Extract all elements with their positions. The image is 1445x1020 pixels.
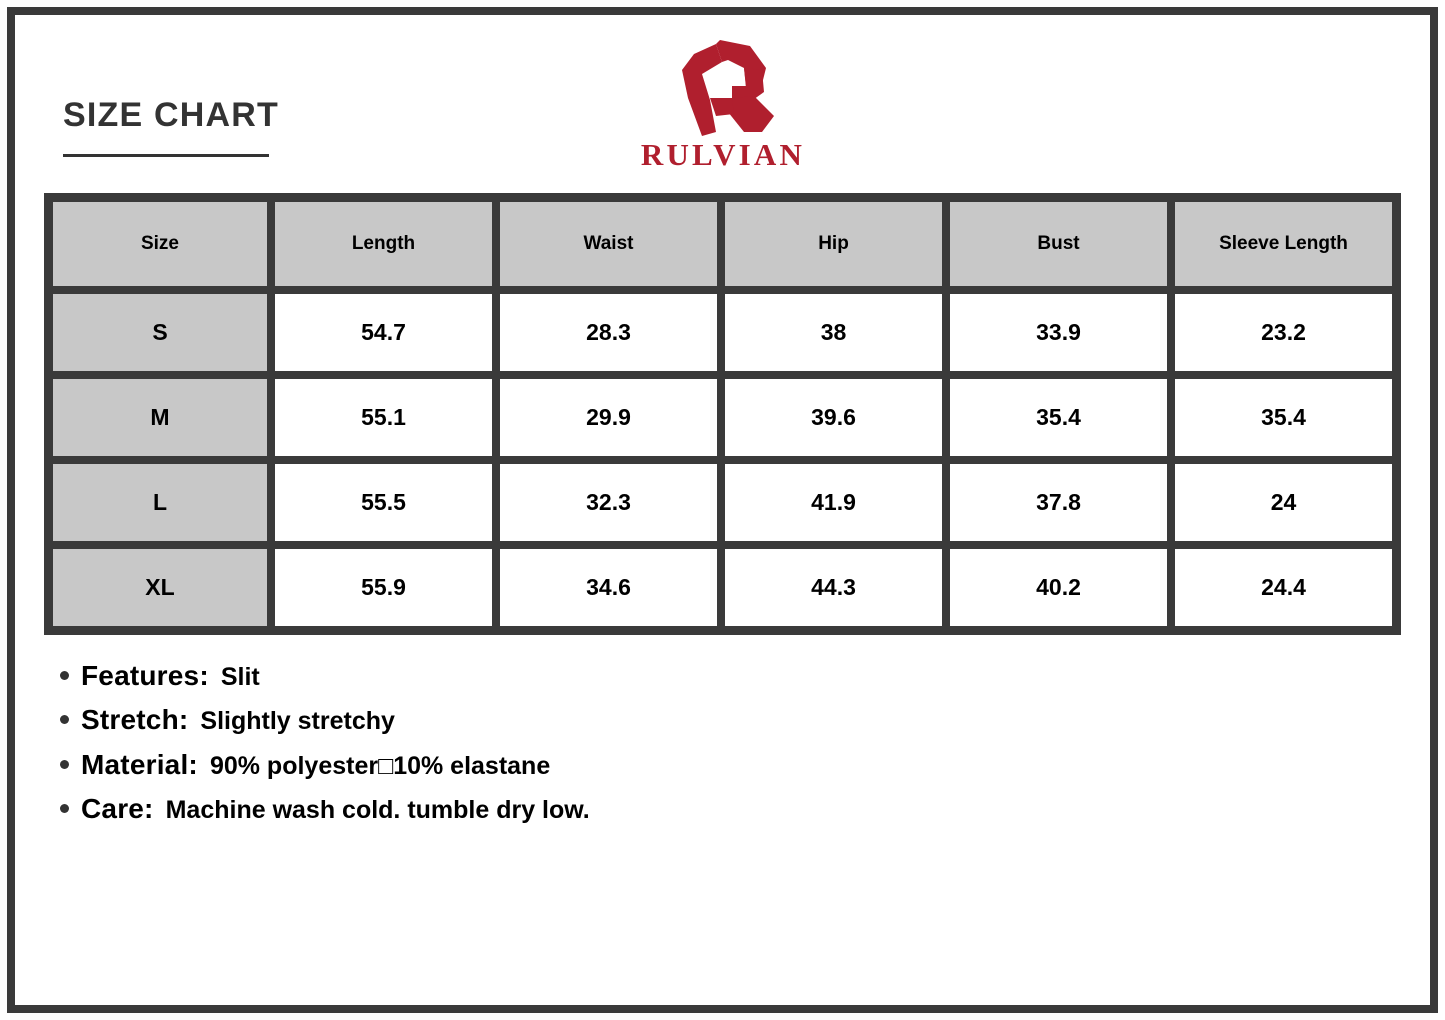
table-body: S 54.7 28.3 38 33.9 23.2 M 55.1 29.9 39.… [49,290,1396,630]
detail-label-stretch: Stretch: [81,702,188,737]
product-details-list: Features: Slit Stretch: Slightly stretch… [60,658,1260,835]
cell-sleeve-length: 24.4 [1171,545,1396,630]
cell-length: 54.7 [271,290,496,375]
cell-waist: 32.3 [496,460,721,545]
detail-value-care: Machine wash cold. tumble dry low. [166,795,590,826]
cell-size: S [49,290,271,375]
list-item: Care: Machine wash cold. tumble dry low. [60,791,1260,826]
table-row: M 55.1 29.9 39.6 35.4 35.4 [49,375,1396,460]
cell-bust: 33.9 [946,290,1171,375]
detail-value-stretch: Slightly stretchy [200,706,395,737]
detail-label-care: Care: [81,791,154,826]
cell-length: 55.5 [271,460,496,545]
column-header-hip: Hip [721,198,946,290]
table-header-row: Size Length Waist Hip Bust Sleeve Length [49,198,1396,290]
cell-bust: 40.2 [946,545,1171,630]
cell-bust: 35.4 [946,375,1171,460]
cell-length: 55.9 [271,545,496,630]
detail-label-material: Material: [81,747,198,782]
bullet-icon [60,715,69,724]
rulvian-r-monogram-icon [658,40,788,136]
bullet-icon [60,760,69,769]
title-underline-rule [63,154,269,157]
list-item: Features: Slit [60,658,1260,693]
title-block: SIZE CHART [63,98,279,157]
cell-waist: 29.9 [496,375,721,460]
cell-sleeve-length: 24 [1171,460,1396,545]
header: SIZE CHART RULVIAN [0,0,1445,190]
page-title: SIZE CHART [63,98,279,132]
cell-hip: 44.3 [721,545,946,630]
column-header-size: Size [49,198,271,290]
table-row: XL 55.9 34.6 44.3 40.2 24.4 [49,545,1396,630]
cell-hip: 39.6 [721,375,946,460]
list-item: Material: 90% polyester□10% elastane [60,747,1260,782]
column-header-bust: Bust [946,198,1171,290]
table-row: L 55.5 32.3 41.9 37.8 24 [49,460,1396,545]
table-row: S 54.7 28.3 38 33.9 23.2 [49,290,1396,375]
detail-label-features: Features: [81,658,209,693]
column-header-length: Length [271,198,496,290]
size-table-container: Size Length Waist Hip Bust Sleeve Length… [44,193,1401,635]
cell-size: M [49,375,271,460]
brand-wordmark: RULVIAN [620,139,826,170]
cell-length: 55.1 [271,375,496,460]
cell-bust: 37.8 [946,460,1171,545]
list-item: Stretch: Slightly stretchy [60,702,1260,737]
cell-sleeve-length: 35.4 [1171,375,1396,460]
detail-value-features: Slit [221,662,260,693]
size-chart-table: Size Length Waist Hip Bust Sleeve Length… [44,193,1401,635]
column-header-waist: Waist [496,198,721,290]
column-header-sleeve-length: Sleeve Length [1171,198,1396,290]
cell-waist: 28.3 [496,290,721,375]
size-chart-page: SIZE CHART RULVIAN [0,0,1445,1020]
brand-logo: RULVIAN [620,40,826,170]
bullet-icon [60,804,69,813]
cell-size: XL [49,545,271,630]
cell-sleeve-length: 23.2 [1171,290,1396,375]
cell-hip: 41.9 [721,460,946,545]
bullet-icon [60,671,69,680]
cell-waist: 34.6 [496,545,721,630]
cell-size: L [49,460,271,545]
cell-hip: 38 [721,290,946,375]
table-header: Size Length Waist Hip Bust Sleeve Length [49,198,1396,290]
detail-value-material: 90% polyester□10% elastane [210,751,550,782]
